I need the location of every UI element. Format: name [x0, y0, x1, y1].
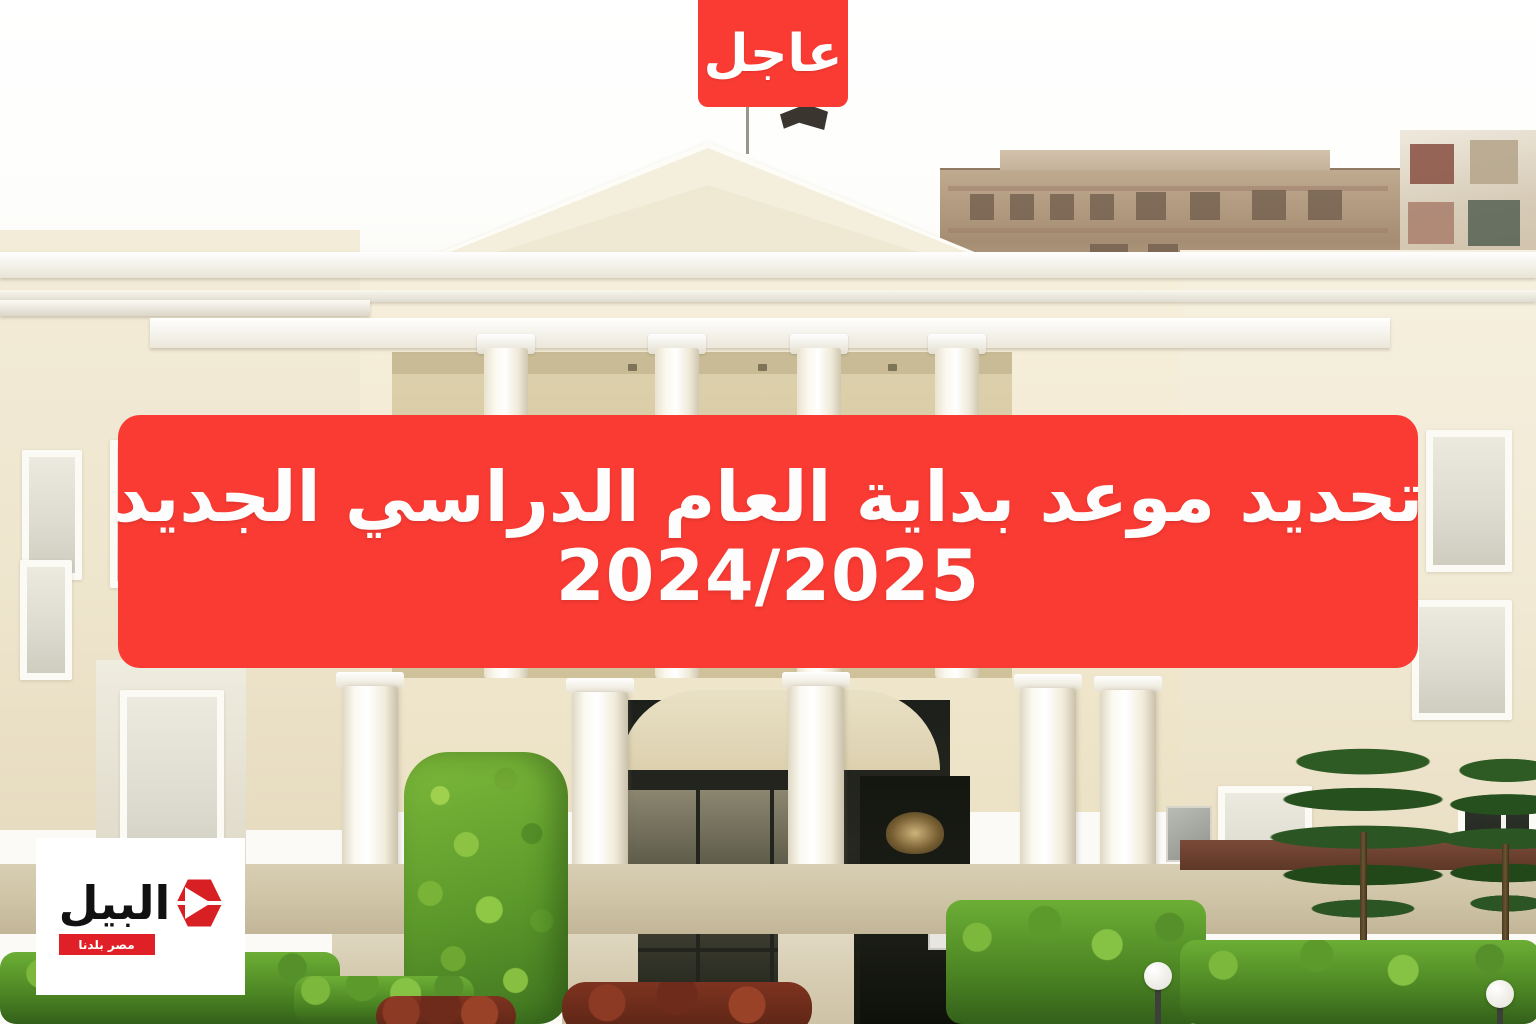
- right-wing-window: [1412, 600, 1512, 720]
- pine-tree: [1432, 740, 1536, 930]
- background-window: [1050, 194, 1074, 220]
- soffit-fixture: [758, 364, 767, 371]
- background-window: [1308, 190, 1342, 220]
- soffit-fixture: [628, 364, 637, 371]
- hedge-row: [1180, 940, 1536, 1024]
- logo-row: البيل: [59, 878, 223, 928]
- right-wing-window: [1426, 430, 1512, 572]
- background-window: [1010, 194, 1034, 220]
- left-wing-window: [20, 560, 72, 680]
- headline-line-1: تحديد موعد بداية العام الدراسي الجديد: [113, 458, 1424, 536]
- background-window: [1090, 194, 1114, 220]
- background-panel: [1410, 144, 1454, 184]
- logo-tagline-text: مصر بلدنا: [78, 939, 134, 951]
- hexagon-play-icon: [176, 878, 222, 928]
- logo-tagline-bar: مصر بلدنا: [59, 934, 155, 955]
- urgent-badge-label: عاجل: [704, 28, 843, 80]
- news-graphic-canvas: عاجل تحديد موعد بداية العام الدراسي الجد…: [0, 0, 1536, 1024]
- logo-inner: البيل مصر بلدنا: [53, 862, 229, 972]
- portico-entablature: [150, 318, 1390, 348]
- headline-banner: تحديد موعد بداية العام الدراسي الجديد 20…: [118, 415, 1418, 668]
- red-foliage: [562, 982, 812, 1024]
- pediment-tympanum: [470, 185, 946, 261]
- left-wing-cornice: [0, 300, 370, 316]
- urgent-badge: عاجل: [698, 0, 848, 107]
- background-window: [1468, 200, 1520, 246]
- background-panel: [1470, 140, 1518, 184]
- background-window: [1190, 192, 1220, 220]
- hedge-row: [946, 900, 1206, 1024]
- red-foliage: [376, 996, 516, 1024]
- entrance-arch: [620, 690, 940, 770]
- headline-line-2: 2024/2025: [556, 536, 980, 617]
- lamp-globe-icon: [1486, 980, 1514, 1008]
- logo-wordmark: البيل: [59, 880, 171, 926]
- channel-logo: البيل مصر بلدنا: [36, 838, 245, 995]
- background-window: [1252, 190, 1286, 220]
- door-emblem: [886, 812, 944, 854]
- background-panel: [1408, 202, 1454, 244]
- lamp-globe-icon: [1144, 962, 1172, 990]
- soffit-fixture: [888, 364, 897, 371]
- background-ledge: [948, 228, 1388, 233]
- main-cornice: [0, 252, 1536, 278]
- lamp-post: [1155, 984, 1161, 1024]
- background-window: [1136, 192, 1166, 220]
